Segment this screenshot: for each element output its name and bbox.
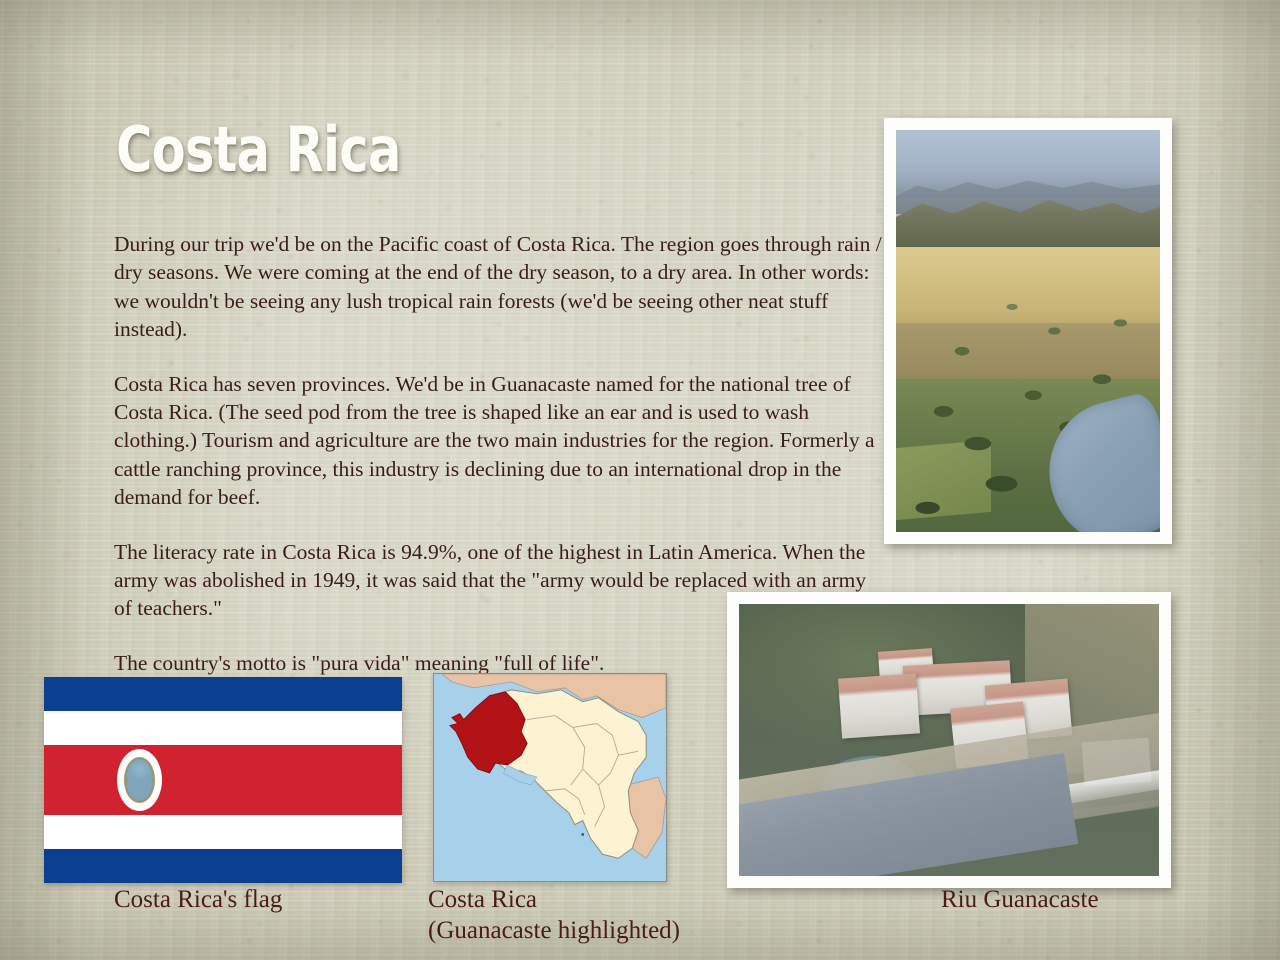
flag-stripe-blue-bottom bbox=[44, 849, 402, 883]
flag-stripe-white-bottom bbox=[44, 815, 402, 849]
resort-scene bbox=[739, 604, 1159, 876]
resort-atmospheric-haze bbox=[739, 604, 1159, 876]
flag-stripe-blue-top bbox=[44, 677, 402, 711]
coat-of-arms-emblem bbox=[124, 757, 155, 802]
landscape-scene bbox=[896, 130, 1160, 532]
costa-rica-flag bbox=[44, 677, 402, 883]
caption-costa-rica-flag: Costa Rica's flag bbox=[114, 884, 282, 915]
map-island-dot bbox=[581, 833, 584, 836]
photo-guanacaste-landscape bbox=[884, 118, 1172, 544]
photo-riu-guanacaste-resort-image bbox=[739, 604, 1159, 876]
photo-riu-guanacaste-resort bbox=[727, 592, 1171, 888]
flag-stripe-white-top bbox=[44, 711, 402, 745]
landscape-atmospheric-haze bbox=[896, 130, 1160, 532]
costa-rica-province-map bbox=[433, 673, 667, 882]
slide-title: Costa Rica bbox=[116, 119, 401, 181]
presentation-slide: Costa Rica During our trip we'd be on th… bbox=[0, 0, 1280, 960]
flag-coat-of-arms bbox=[117, 749, 162, 811]
paragraph-provinces: Costa Rica has seven provinces. We'd be … bbox=[114, 370, 884, 512]
caption-costa-rica-map: Costa Rica (Guanacaste highlighted) bbox=[428, 884, 680, 946]
costa-rica-map-graphic bbox=[434, 674, 666, 881]
photo-guanacaste-landscape-image bbox=[896, 130, 1160, 532]
caption-riu-guanacaste: Riu Guanacaste bbox=[941, 884, 1099, 915]
paragraph-trip-overview: During our trip we'd be on the Pacific c… bbox=[114, 230, 884, 344]
flag-stripe-red bbox=[44, 745, 402, 815]
